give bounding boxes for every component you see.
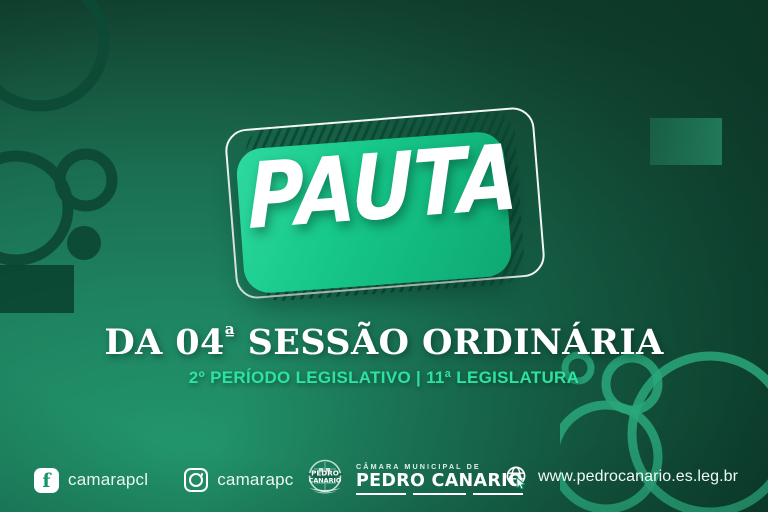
website-url[interactable]: www.pedrocanario.es.leg.br xyxy=(538,468,738,486)
instagram-handle[interactable]: camarapc xyxy=(217,470,293,490)
city-council-brand: PEDRO CANARIO CÂMARA MUNICIPAL DE PEDRO … xyxy=(302,456,523,502)
background-vignette xyxy=(0,0,768,512)
title-prefix: DA 04 xyxy=(104,322,224,363)
title-rest: SESSÃO ORDINÁRIA xyxy=(235,322,664,363)
coat-of-arms-icon: PEDRO CANARIO xyxy=(302,456,348,502)
brand-text: CÂMARA MUNICIPAL DE PEDRO CANARIO xyxy=(356,463,523,496)
page-subtitle: 2º PERÍODO LEGISLATIVO | 11ª LEGISLATURA xyxy=(0,368,768,388)
website-link[interactable]: www.pedrocanario.es.leg.br xyxy=(505,465,738,489)
social-links: f camarapcl camarapc xyxy=(34,458,293,502)
facebook-handle[interactable]: camarapcl xyxy=(68,470,148,490)
title-ordinal: ª xyxy=(225,322,235,346)
footer-bar: f camarapcl camarapc PEDRO CANARIO xyxy=(0,448,768,512)
facebook-glyph: f xyxy=(42,472,50,491)
brand-supertitle: CÂMARA MUNICIPAL DE xyxy=(356,463,523,470)
poster-canvas: PAUTA DA 04ª SESSÃO ORDINÁRIA 2º PERÍODO… xyxy=(0,0,768,512)
brand-underline xyxy=(356,493,523,495)
page-title: DA 04ª SESSÃO ORDINÁRIA xyxy=(0,322,768,363)
facebook-icon[interactable]: f xyxy=(34,468,59,493)
brand-name: PEDRO CANARIO xyxy=(356,473,523,491)
instagram-icon[interactable] xyxy=(184,468,208,492)
svg-text:CANARIO: CANARIO xyxy=(309,477,342,485)
globe-cursor-icon xyxy=(505,465,529,489)
